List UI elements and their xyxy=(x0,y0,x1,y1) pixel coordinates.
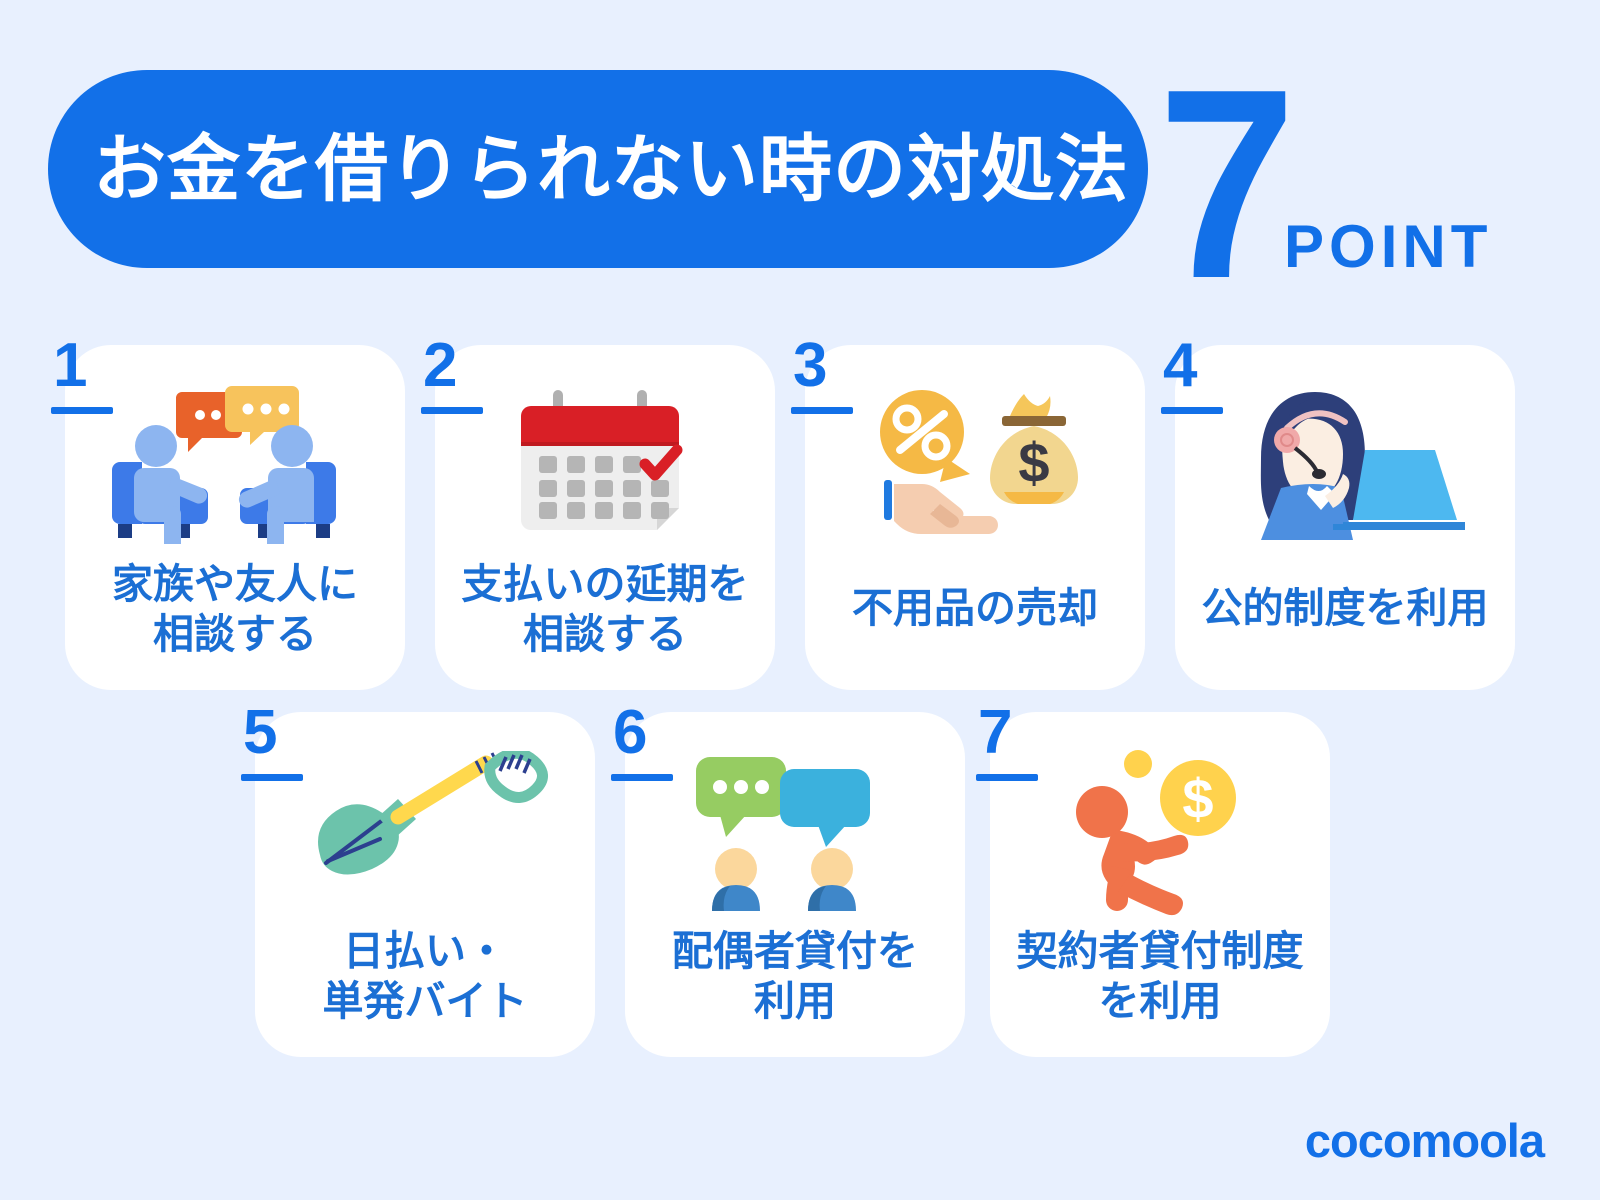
cards-grid: 1 xyxy=(0,0,1600,1200)
point-card-4[interactable]: 4 xyxy=(1175,345,1515,690)
two-people-speech-bubbles-icon xyxy=(625,746,965,916)
card-number: 1 xyxy=(53,335,87,397)
card-label: 不用品の売却 xyxy=(813,583,1137,633)
card-number: 3 xyxy=(793,335,827,397)
card-number: 7 xyxy=(978,702,1012,764)
card-number: 6 xyxy=(613,702,647,764)
card-number: 2 xyxy=(423,335,457,397)
svg-text:$: $ xyxy=(1018,431,1049,494)
card-label: 契約者貸付制度 を利用 xyxy=(998,926,1322,1026)
card-label: 支払いの延期を 相談する xyxy=(443,559,767,659)
card-number: 5 xyxy=(243,702,277,764)
shovel-icon xyxy=(255,746,595,916)
card-label: 家族や友人に 相談する xyxy=(73,559,397,659)
hand-money-bag-percent-icon: $ xyxy=(805,379,1145,549)
svg-text:$: $ xyxy=(1182,767,1213,830)
card-number-rule xyxy=(51,407,113,414)
point-card-7[interactable]: 7 $ xyxy=(990,712,1330,1057)
card-label: 日払い・ 単発バイト xyxy=(263,926,587,1026)
card-number-rule xyxy=(241,774,303,781)
card-label: 配偶者貸付を 利用 xyxy=(633,926,957,1026)
point-card-3[interactable]: 3 $ xyxy=(805,345,1145,690)
card-number-rule xyxy=(791,407,853,414)
card-number-rule xyxy=(1161,407,1223,414)
infographic-page: お金を借りられない時の対処法 7 POINT 1 xyxy=(0,0,1600,1200)
point-card-1[interactable]: 1 xyxy=(65,345,405,690)
card-number-rule xyxy=(421,407,483,414)
point-card-2[interactable]: 2 xyxy=(435,345,775,690)
cocomoola-logo: cocomoola xyxy=(1305,1117,1544,1164)
person-carrying-coin-icon: $ xyxy=(990,746,1330,916)
card-number: 4 xyxy=(1163,335,1197,397)
headset-operator-laptop-icon xyxy=(1175,379,1515,549)
two-people-talking-icon xyxy=(65,379,405,549)
card-number-rule xyxy=(976,774,1038,781)
point-card-5[interactable]: 5 xyxy=(255,712,595,1057)
card-number-rule xyxy=(611,774,673,781)
calendar-check-icon xyxy=(435,379,775,549)
card-label: 公的制度を利用 xyxy=(1183,583,1507,633)
point-card-6[interactable]: 6 xyxy=(625,712,965,1057)
